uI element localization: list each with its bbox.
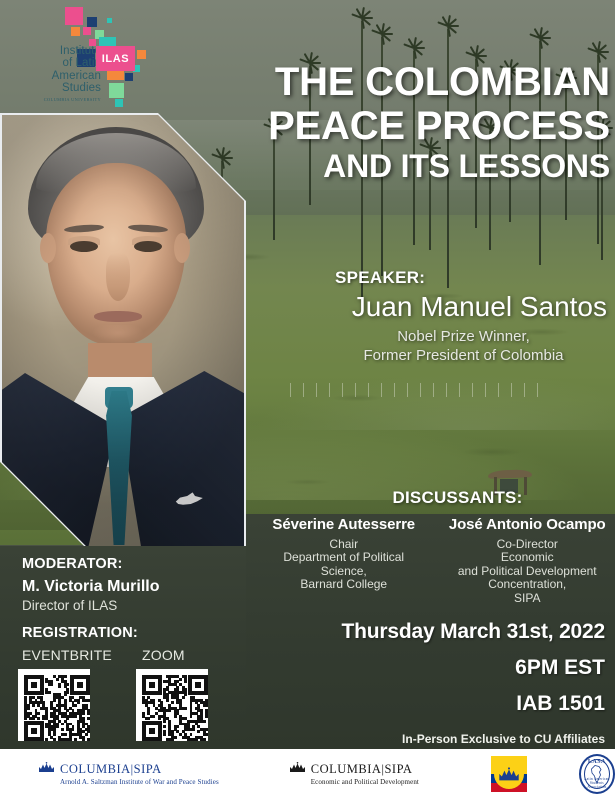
event-access-note: In-Person Exclusive to CU Affiliates [280,732,605,746]
registration-block: REGISTRATION: EVENTBRITE ZOOM [22,625,252,663]
title-line-1: THE COLOMBIAN [200,60,610,104]
columbia-crown-icon [38,762,55,773]
lasa-sublabel: Latin American Students Association [581,777,613,789]
colombian-flag-crown-icon [494,759,524,789]
crown-icon [498,767,520,782]
registration-option-eventbrite: EVENTBRITE [22,647,142,663]
qr-code-zoom[interactable] [136,669,208,741]
speaker-subtitle-line-1: Nobel Prize Winner, [320,328,607,347]
title-line-2: PEACE PROCESS [200,104,610,148]
footer-logo-sub: Arnold A. Saltzman Institute of War and … [60,778,219,786]
logo-columbia-sipa-saltzman: COLUMBIA|SIPA Arnold A. Saltzman Institu… [38,753,219,795]
event-time: 6PM EST [280,656,605,680]
moderator-role: Director of ILAS [22,598,242,613]
registration-label: REGISTRATION: [22,625,252,641]
moderator-block: MODERATOR: M. Victoria Murillo Director … [22,556,242,613]
event-location: IAB 1501 [280,692,605,716]
moderator-label: MODERATOR: [22,556,242,572]
footer-logo-name: COLUMBIA|SIPA [60,762,219,777]
logo-columbia-sipa-epd: COLUMBIA|SIPA Economic and Political Dev… [289,753,419,795]
sponsor-footer: COLUMBIA|SIPA Arnold A. Saltzman Institu… [0,749,615,799]
discussant-name: José Antonio Ocampo [440,516,615,533]
ilas-name-line-2: of Latin [29,57,101,69]
ilas-logo-name: Institute of Latin American Studies [29,45,101,95]
speaker-name: Juan Manuel Santos [240,290,607,324]
footer-logo-sub: Economic and Political Development [311,778,419,786]
registration-option-zoom: ZOOM [142,647,185,663]
discussant-role: Co-Director Economic and Political Devel… [440,538,615,605]
moderator-name: M. Victoria Murillo [22,578,242,596]
speaker-subtitle-line-2: Former President of Colombia [320,347,607,366]
discussant-item: José Antonio Ocampo Co-Director Economic… [440,516,615,605]
speaker-subtitle: Nobel Prize Winner, Former President of … [240,328,607,365]
lasa-label: LASA [581,759,613,765]
logo-colombian-students-association [491,756,527,792]
fence-right [290,383,550,397]
speaker-label: SPEAKER: [240,268,607,288]
ilas-logo: Institute of Latin American Studies COLU… [25,5,141,109]
event-poster: Institute of Latin American Studies COLU… [0,0,615,799]
speaker-block: SPEAKER: Juan Manuel Santos Nobel Prize … [240,268,615,365]
event-date: Thursday March 31st, 2022 [280,620,605,644]
discussant-item: Séverine Autesserre Chair Department of … [256,516,432,605]
qr-code-eventbrite[interactable] [18,669,90,741]
logo-lasa: LASA Latin American Students Association [579,754,615,794]
discussants-label: DISCUSSANTS: [300,488,615,508]
ilas-badge: ILAS [96,46,135,71]
title-line-3: AND ITS LESSONS [200,148,610,184]
ilas-name-line-3: American [29,70,101,82]
ilas-university-label: COLUMBIA UNIVERSITY [29,97,101,102]
discussants-list: Séverine Autesserre Chair Department of … [256,516,615,605]
footer-logo-name: COLUMBIA|SIPA [311,762,419,777]
ilas-name-line-1: Institute [29,45,101,57]
qr-code-row [18,669,208,741]
discussant-role: Chair Department of Political Science, B… [256,538,432,592]
ilas-name-line-4: Studies [29,82,101,94]
discussant-name: Séverine Autesserre [256,516,432,533]
poster-title: THE COLOMBIAN PEACE PROCESS AND ITS LESS… [200,60,610,184]
event-details-block: Thursday March 31st, 2022 6PM EST IAB 15… [280,620,605,746]
columbia-crown-icon [289,762,306,773]
